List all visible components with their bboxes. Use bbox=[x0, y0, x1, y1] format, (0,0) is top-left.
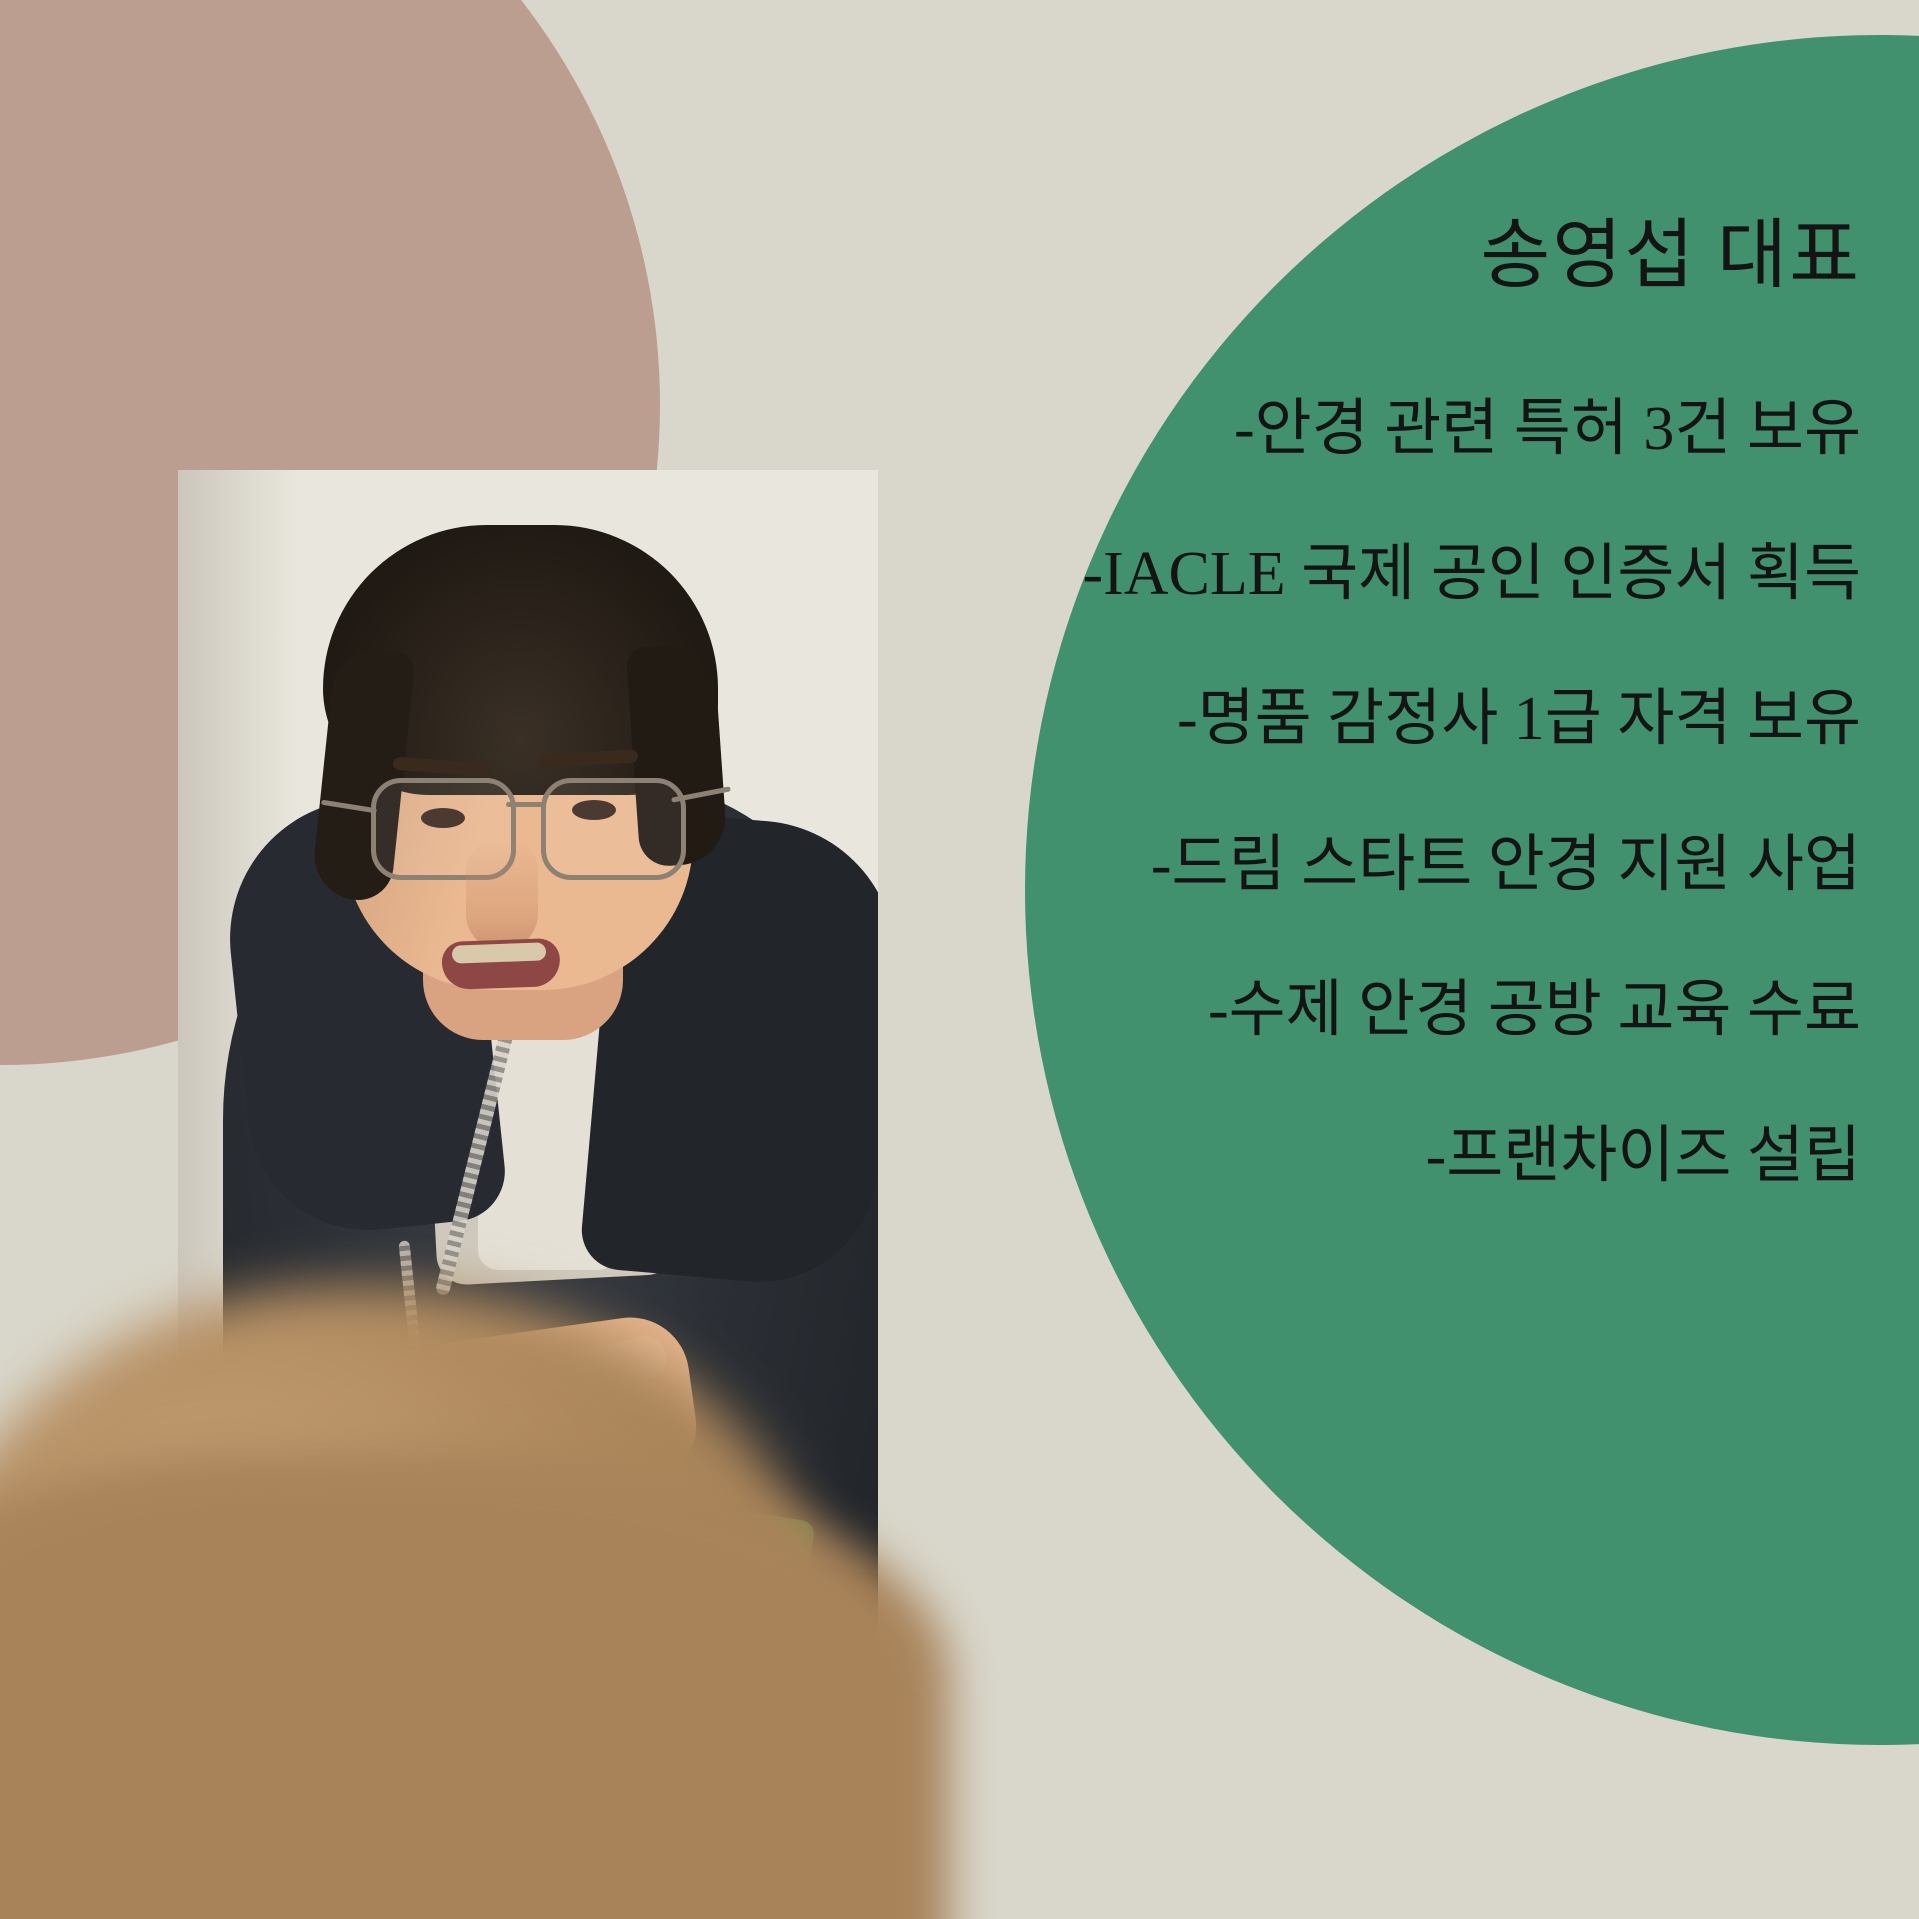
credential-item-5: -수제 안경 공방 교육 수료 bbox=[901, 976, 1861, 1045]
credential-item-6: -프랜차이즈 설립 bbox=[901, 1122, 1861, 1191]
credential-item-4: -드림 스타트 안경 지원 사업 bbox=[901, 831, 1861, 900]
profile-poster: BX5y OLULU 송영섭 대표 -안경 관련 특허 3건 보유 -IACLE… bbox=[0, 0, 1919, 1919]
eyeglass-lens-right bbox=[541, 778, 686, 880]
subject-teeth bbox=[452, 942, 547, 963]
credential-item-1: -안경 관련 특허 3건 보유 bbox=[901, 395, 1861, 464]
page-title: 송영섭 대표 bbox=[901, 215, 1861, 299]
credential-item-2: -IACLE 국제 공인 인증서 획득 bbox=[901, 540, 1861, 609]
credential-item-3: -명품 감정사 1급 자격 보유 bbox=[901, 685, 1861, 754]
subject-nose bbox=[466, 840, 538, 950]
eyeglass-bridge bbox=[506, 802, 546, 807]
credentials-panel: 송영섭 대표 -안경 관련 특허 3건 보유 -IACLE 국제 공인 인증서 … bbox=[901, 215, 1861, 1191]
foreground-blurred-figure-lower bbox=[0, 1450, 950, 1919]
